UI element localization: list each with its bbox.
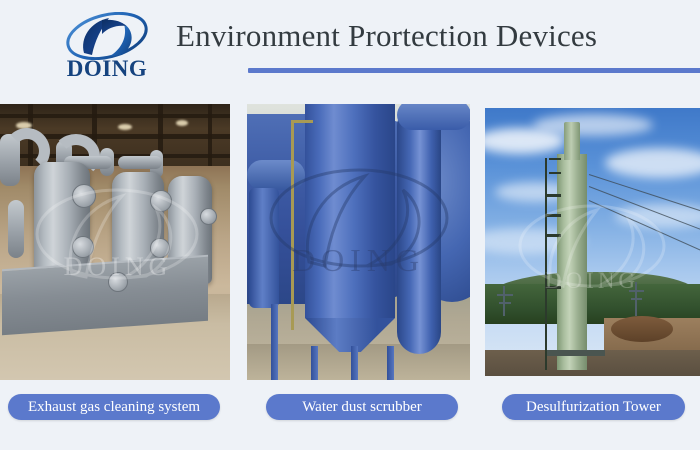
photo-exhaust-gas-cleaning-system: DOING <box>0 104 230 380</box>
title-underline <box>248 68 700 73</box>
environment-protection-devices-banner: DOING Environment Prortection Devices <box>0 0 700 450</box>
photo-water-dust-scrubber: DOING <box>247 104 470 380</box>
page-title: Environment Prortection Devices <box>176 18 597 54</box>
photo-panel-exhaust-gas-cleaning-system[interactable]: DOING <box>0 104 230 380</box>
photo-panel-desulfurization-tower[interactable]: DOING <box>485 108 700 376</box>
banner-header: DOING Environment Prortection Devices <box>0 0 700 100</box>
photo-panel-group: DOING <box>0 104 700 384</box>
photo-desulfurization-tower: DOING <box>485 108 700 376</box>
doing-swirl-logo-icon <box>62 12 152 60</box>
watermark-text: DOING <box>28 252 208 282</box>
brand-wordmark: DOING <box>52 56 162 82</box>
caption-exhaust-gas-cleaning-system[interactable]: Exhaust gas cleaning system <box>8 394 220 420</box>
caption-water-dust-scrubber[interactable]: Water dust scrubber <box>266 394 458 420</box>
watermark-text: DOING <box>509 268 675 294</box>
brand-logo: DOING <box>52 12 162 92</box>
caption-desulfurization-tower[interactable]: Desulfurization Tower <box>502 394 685 420</box>
photo-panel-water-dust-scrubber[interactable]: DOING <box>247 104 470 380</box>
watermark-text: DOING <box>261 242 456 279</box>
